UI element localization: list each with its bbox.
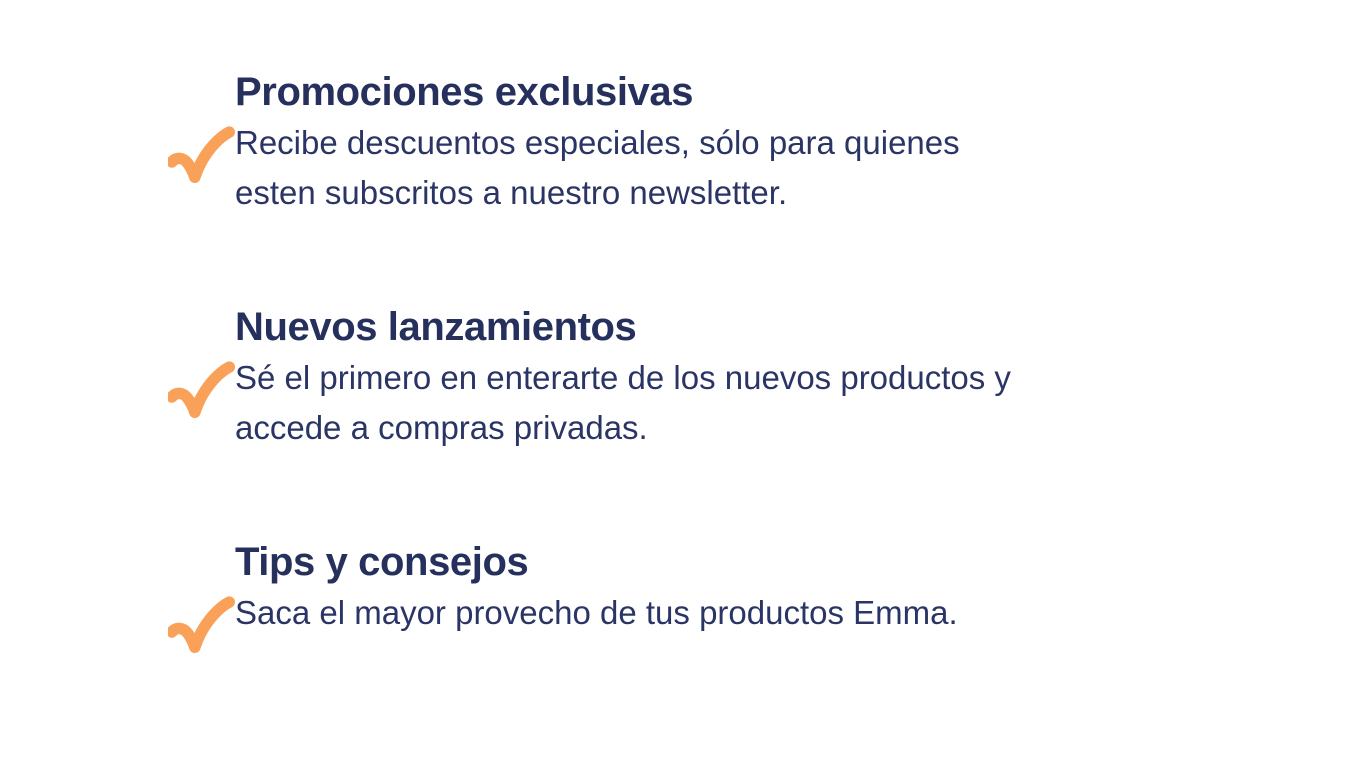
benefit-description: Saca el mayor provecho de tus productos … <box>235 588 1035 638</box>
benefit-icon-slot <box>0 305 235 467</box>
benefit-text-block: Promociones exclusivas Recibe descuentos… <box>235 70 1370 218</box>
benefits-list: Promociones exclusivas Recibe descuentos… <box>0 0 1370 780</box>
benefit-description: Recibe descuentos especiales, sólo para … <box>235 118 1035 218</box>
checkmark-icon <box>168 82 235 232</box>
benefit-icon-slot <box>0 540 235 702</box>
checkmark-icon <box>168 317 235 467</box>
benefit-title: Tips y consejos <box>235 540 1250 584</box>
benefit-title: Promociones exclusivas <box>235 70 1250 114</box>
benefit-text-block: Nuevos lanzamientos Sé el primero en ent… <box>235 305 1370 453</box>
benefit-icon-slot <box>0 70 235 232</box>
benefit-description: Sé el primero en enterarte de los nuevos… <box>235 353 1035 453</box>
checkmark-icon <box>168 552 235 702</box>
benefit-text-block: Tips y consejos Saca el mayor provecho d… <box>235 540 1370 638</box>
benefit-item-promociones: Promociones exclusivas Recibe descuentos… <box>0 70 1370 305</box>
benefit-title: Nuevos lanzamientos <box>235 305 1250 349</box>
benefit-item-tips: Tips y consejos Saca el mayor provecho d… <box>0 540 1370 775</box>
benefit-item-lanzamientos: Nuevos lanzamientos Sé el primero en ent… <box>0 305 1370 540</box>
